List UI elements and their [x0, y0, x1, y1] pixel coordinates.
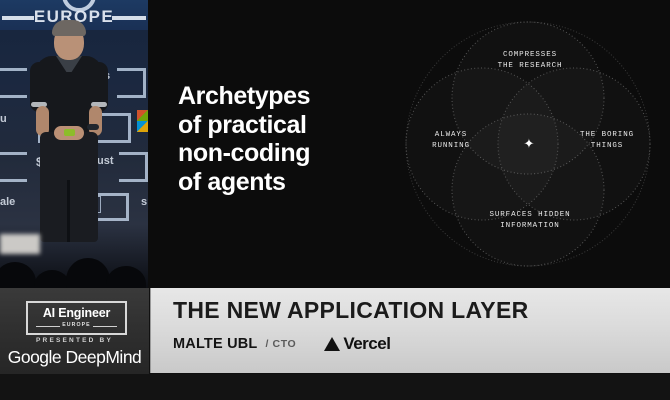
- speaker-leg-gap: [67, 180, 70, 242]
- sponsor-bracket: [119, 152, 148, 182]
- microsoft-logo-icon: [137, 110, 148, 121]
- presented-by-label: PRESENTED BY: [0, 337, 149, 344]
- slide-title: Archetypes of practical non-coding of ag…: [178, 82, 378, 196]
- company-logo: Vercel: [324, 334, 390, 354]
- venn-label-right: THE BORING THINGS: [563, 130, 651, 153]
- sponsor-text: s: [141, 196, 147, 208]
- ai-engineer-region-row: EUROPE: [28, 322, 125, 331]
- venn-diagram: COMPRESSES THE RESEARCH ALWAYS RUNNING T…: [403, 18, 653, 270]
- speaker-video-panel[interactable]: EUROPE s u $ ust ale s Eng: [0, 0, 148, 288]
- audience-head: [34, 270, 70, 288]
- sponsor-text: u: [0, 113, 7, 125]
- vercel-triangle-icon: [324, 337, 340, 351]
- speaker-name: MALTE UBL: [173, 336, 258, 352]
- badge-dash-right: [93, 326, 117, 327]
- ai-engineer-wordmark: AI Engineer: [28, 306, 125, 320]
- venn-label-left: ALWAYS RUNNING: [411, 130, 491, 153]
- venn-label-top: COMPRESSES THE RESEARCH: [475, 50, 585, 73]
- ai-engineer-region: EUROPE: [28, 322, 125, 328]
- presenter-clicker-icon: [64, 129, 75, 136]
- sponsor-bracket: [117, 68, 146, 98]
- venn-label-bottom: SURFACES HIDDEN INFORMATION: [465, 210, 595, 233]
- google-deepmind-wordmark: Google DeepMind: [0, 347, 149, 368]
- presentation-screenshot: EUROPE s u $ ust ale s Eng: [0, 0, 670, 400]
- company-name: Vercel: [343, 334, 390, 354]
- audience-head: [106, 266, 146, 288]
- audience-head: [0, 262, 36, 288]
- audience-silhouettes: [0, 236, 148, 288]
- event-sponsor-block: AI Engineer EUROPE PRESENTED BY Google D…: [0, 288, 149, 374]
- lower-banner: AI Engineer EUROPE PRESENTED BY Google D…: [0, 288, 670, 400]
- speaker-figure: [30, 20, 108, 240]
- talk-title-bar: THE NEW APPLICATION LAYER MALTE UBL / CT…: [150, 288, 670, 373]
- speaker-hair: [52, 20, 86, 36]
- speaker-role: / CTO: [266, 338, 297, 350]
- speaker-watch: [87, 124, 99, 130]
- ai-engineer-logo: AI Engineer EUROPE: [26, 301, 127, 335]
- talk-headline: THE NEW APPLICATION LAYER: [173, 297, 529, 324]
- sparkle-icon: ✦: [521, 136, 537, 152]
- microsoft-logo-icon: [137, 121, 148, 132]
- audience-head: [66, 258, 110, 288]
- sponsor-bracket: [0, 152, 27, 182]
- slide-panel: Archetypes of practical non-coding of ag…: [148, 0, 670, 288]
- banner-footer-strip: [0, 374, 670, 400]
- sponsor-text: ale: [0, 196, 15, 208]
- sponsor-bracket: [0, 68, 27, 98]
- talk-speaker-row: MALTE UBL / CTO Vercel: [173, 334, 390, 354]
